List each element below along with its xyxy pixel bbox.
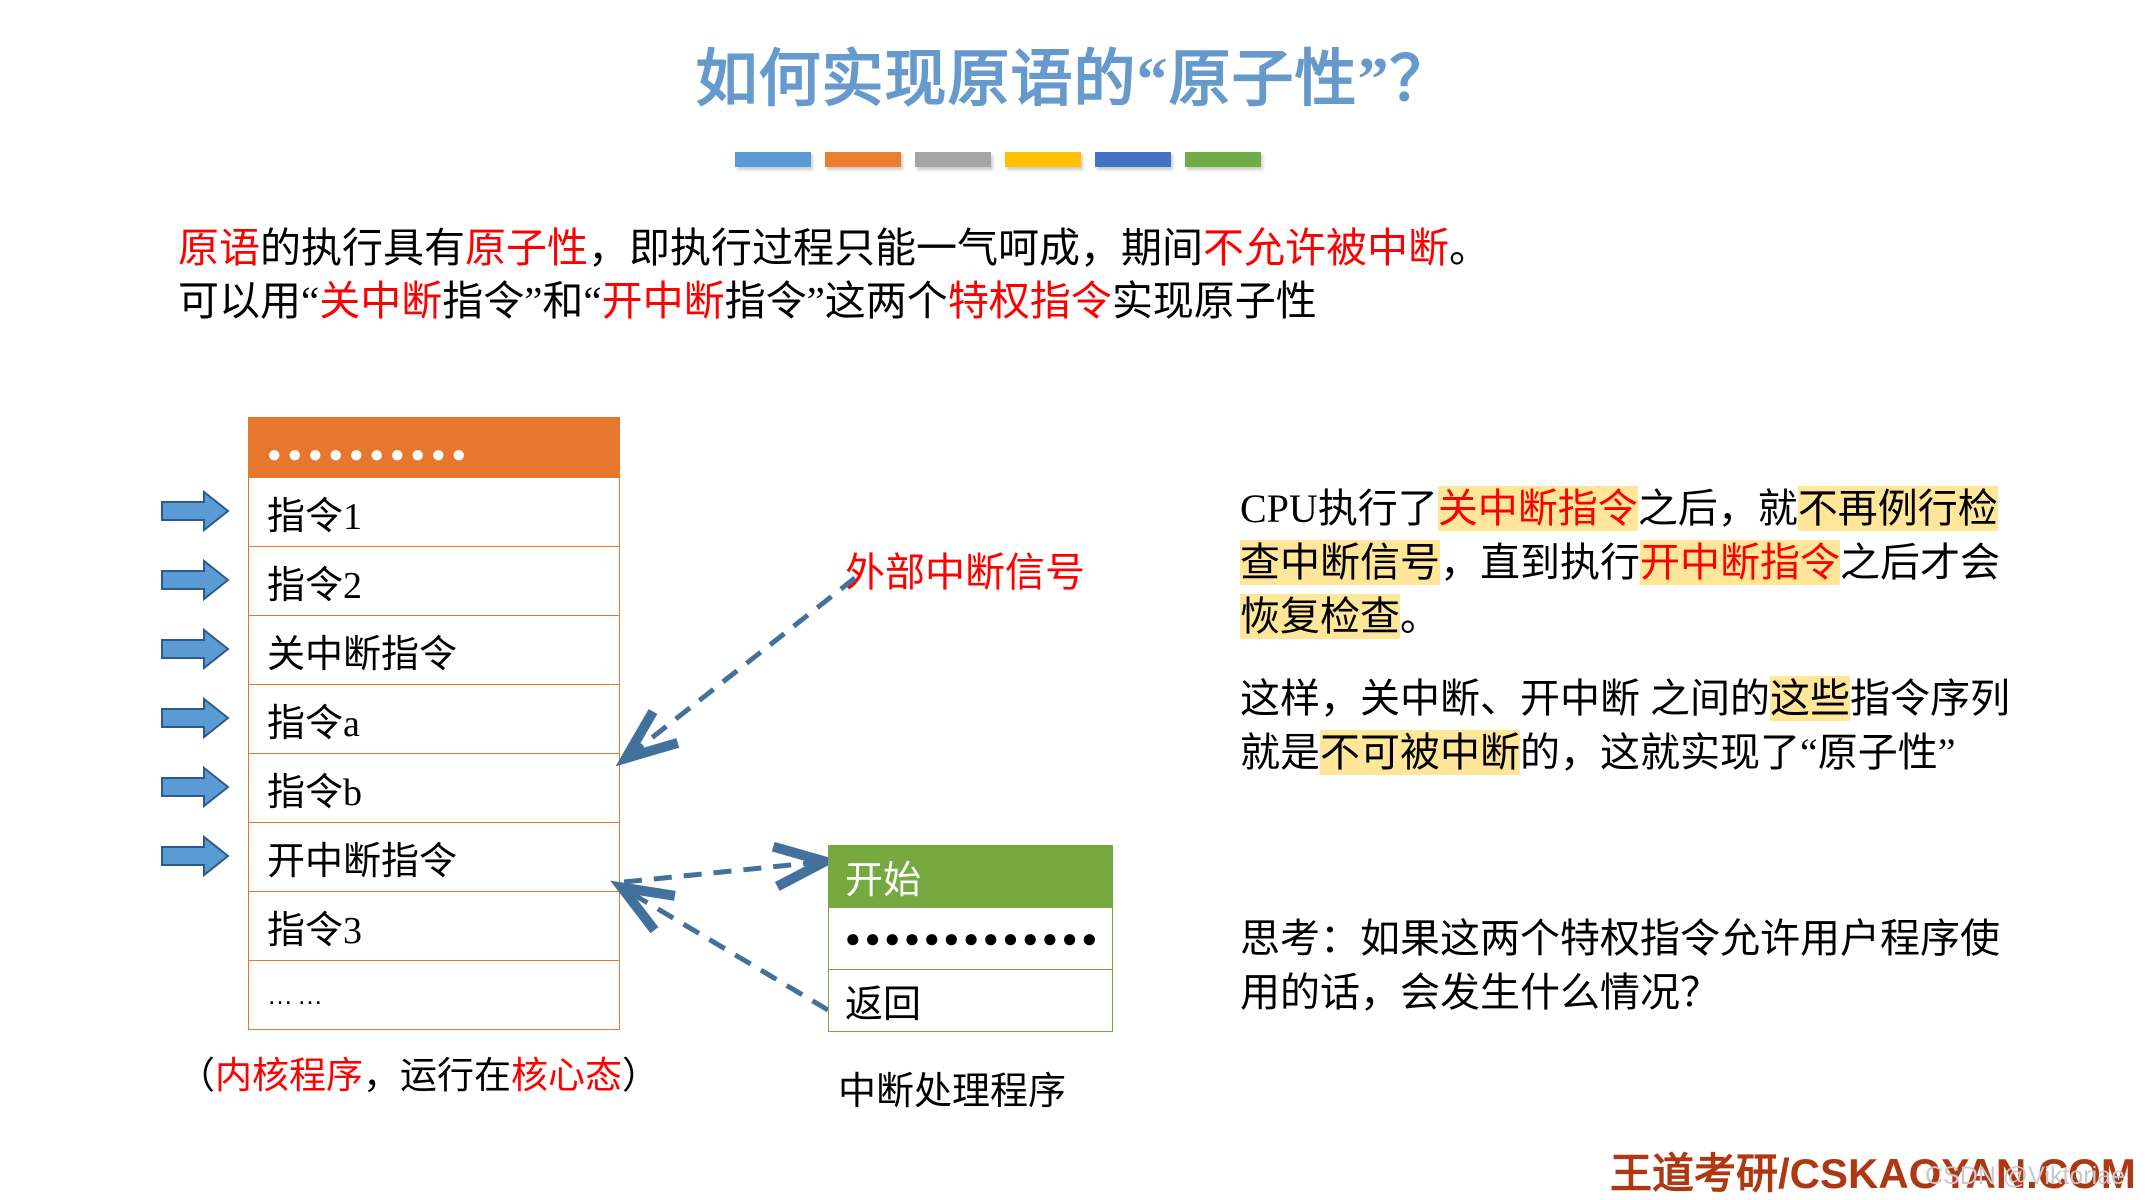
instruction-label: 指令a [267,692,360,747]
intro-l2-s5: 指令”这两个 [725,278,948,324]
table-row: 指令2 [249,546,619,615]
intro-l2-s3: 指令”和“ [442,278,601,324]
intro-l1-s6: 。 [1449,225,1490,271]
intro-l2-s1: 可以用“ [178,278,319,324]
instruction-label: …… [267,980,327,1011]
instruction-label: 指令2 [267,554,362,609]
instruction-label: 开中断指令 [267,830,457,885]
handler-box-caption: 中断处理程序 [838,1060,1066,1115]
handler-row: ●●●●●●●●●●●●● [829,907,1112,969]
caption-s1: （ [178,1056,215,1097]
page-title: 如何实现原语的“原子性”？ [0,28,2148,118]
p1-s9: 。 [1400,594,1440,639]
table-row: 指令3 [249,891,619,960]
handler-row: 返回 [829,969,1112,1031]
p1-s6: 开中断指令 [1640,540,1840,585]
p3-s1: 思考：如果这两个特权指令允许用户程序使用的话，会发生什么情况？ [1240,916,2000,1015]
header-dots-label: ●●●●●●●●●● [267,443,472,467]
caption-s4: 核心态 [511,1056,622,1097]
dashed-arrow-handler-to-table [626,890,828,1010]
instruction-label: 指令1 [267,485,362,540]
p2-s4: 不可被中断 [1320,730,1520,775]
caption-s3: ，运行在 [363,1056,511,1097]
table-row: 指令a [249,684,619,753]
bar-green [1185,152,1261,167]
caption-s2: 内核程序 [215,1056,363,1097]
instruction-label: 关中断指令 [267,623,457,678]
instruction-table: ●●●●●●●●●● 指令1 指令2 关中断指令 指令a 指令b 开中断指令 指… [248,417,620,1030]
caption-s5: ） [622,1056,659,1097]
explanation-paragraph-3: 思考：如果这两个特权指令允许用户程序使用的话，会发生什么情况？ [1240,912,2030,1020]
external-signal-label: 外部中断信号 [845,540,1085,598]
bar-gray [915,152,991,167]
p1-s3: 之后，就 [1638,486,1798,531]
intro-l2-s2: 关中断 [319,278,442,324]
handler-row-label: 返回 [845,973,921,1028]
table-row: 指令b [249,753,619,822]
dashed-arrow-signal-to-table [630,578,855,755]
p1-s1: CPU执行了 [1240,486,1438,531]
intro-l2-s6: 特权指令 [948,278,1112,324]
intro-l1-s2: 的执行具有 [260,225,465,271]
row-pointer-arrow-3 [160,627,230,671]
p2-s1: 这样，关中断、开中断 之间的 [1240,676,1770,721]
intro-l2-s7: 实现原子性 [1112,278,1317,324]
csdn-watermark: CSDN @Viktoriae [1925,1162,2125,1191]
intro-paragraph: 原语的执行具有原子性，即执行过程只能一气呵成，期间不允许被中断。 可以用“关中断… [178,222,1578,329]
p1-s2: 关中断指令 [1438,486,1638,531]
row-pointer-arrow-2 [160,558,230,602]
table-row: 指令1 [249,477,619,546]
intro-l1-s5: 不允许被中断 [1203,225,1449,271]
row-pointer-arrow-5 [160,765,230,809]
p2-s5: 的，这就实现了“原子性” [1520,730,1956,775]
handler-row-label: ●●●●●●●●●●●●● [845,923,1101,954]
explanation-paragraph-1: CPU执行了关中断指令之后，就不再例行检查中断信号，直到执行开中断指令之后才会恢… [1240,482,2030,644]
instruction-label: 指令3 [267,899,362,954]
p1-s7: 之后才会 [1840,540,2000,585]
p1-s5: ，直到执行 [1440,540,1640,585]
row-pointer-arrow-6 [160,834,230,878]
bar-light-blue [735,152,811,167]
bar-dark-blue [1095,152,1171,167]
dashed-arrow-table-to-handler [624,862,820,882]
instruction-label: 指令b [267,761,362,816]
p2-s2: 这些 [1770,676,1850,721]
row-pointer-arrow-1 [160,489,230,533]
p1-s8: 恢复检查 [1240,594,1400,639]
intro-line-1: 原语的执行具有原子性，即执行过程只能一气呵成，期间不允许被中断。 [178,222,1578,275]
intro-l1-s3: 原子性 [465,225,588,271]
intro-l2-s4: 开中断 [602,278,725,324]
table-row: 开中断指令 [249,822,619,891]
bar-yellow [1005,152,1081,167]
bar-orange [825,152,901,167]
handler-box-header: 开始 [829,845,1112,907]
row-pointer-arrow-4 [160,696,230,740]
table-row: 关中断指令 [249,615,619,684]
slide-canvas: 如何实现原语的“原子性”？ 原语的执行具有原子性，即执行过程只能一气呵成，期间不… [0,0,2148,1200]
explanation-paragraph-2: 这样，关中断、开中断 之间的这些指令序列就是不可被中断的，这就实现了“原子性” [1240,672,2030,780]
accent-bar-group [735,152,1261,167]
intro-l1-s4: ，即执行过程只能一气呵成，期间 [588,225,1203,271]
intro-l1-s1: 原语 [178,225,260,271]
instruction-table-header: ●●●●●●●●●● [249,417,619,477]
instruction-table-caption: （内核程序，运行在核心态） [178,1045,659,1099]
interrupt-handler-box: 开始 ●●●●●●●●●●●●● 返回 [828,845,1113,1032]
table-row: …… [249,960,619,1029]
intro-line-2: 可以用“关中断指令”和“开中断指令”这两个特权指令实现原子性 [178,275,1578,328]
